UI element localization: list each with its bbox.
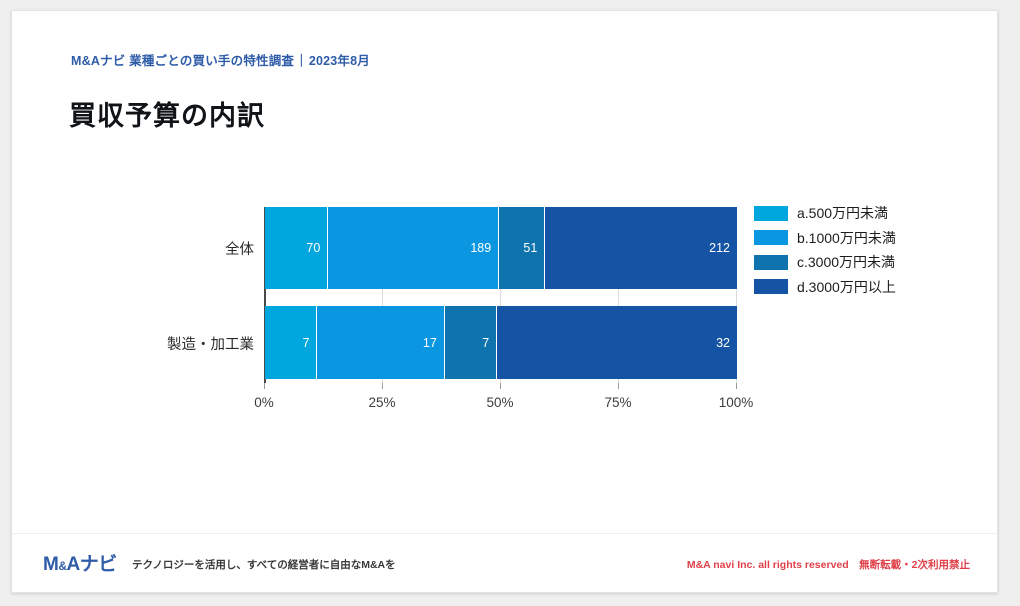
- legend-item[interactable]: d.3000万円以上: [754, 275, 964, 300]
- legend-item-label: b.1000万円未満: [797, 228, 896, 248]
- chart-bar-value-label: 32: [716, 336, 730, 350]
- chart-x-tick: [264, 383, 265, 389]
- legend-item-label: d.3000万円以上: [797, 277, 896, 297]
- chart-bar-value-label: 212: [709, 241, 730, 255]
- logo-ampersand: &: [58, 559, 66, 573]
- chart-x-tick: [382, 383, 383, 389]
- chart-bar-segment[interactable]: 189: [328, 207, 499, 289]
- chart-bar-value-label: 70: [306, 241, 320, 255]
- chart-x-tick-label: 0%: [254, 395, 274, 410]
- chart-bar-value-label: 189: [470, 241, 491, 255]
- chart-bar-segment[interactable]: 212: [545, 207, 737, 289]
- chart-x-tick-label: 25%: [368, 395, 395, 410]
- legend-item-label: a.500万円未満: [797, 203, 888, 223]
- chart-x-tick: [618, 383, 619, 389]
- chart-bar-value-label: 7: [302, 336, 309, 350]
- stacked-bar-chart: 0%25%50%75%100%全体7018951212製造・加工業717732: [12, 11, 998, 593]
- slide-canvas: M&Aナビ 業種ごとの買い手の特性調査｜2023年8月 買収予算の内訳 0%25…: [11, 10, 998, 593]
- chart-bar-value-label: 7: [482, 336, 489, 350]
- chart-x-tick-label: 100%: [719, 395, 754, 410]
- brand-tagline: テクノロジーを活用し、すべての経営者に自由なM&Aを: [132, 557, 396, 572]
- legend-color-swatch: [754, 255, 788, 270]
- legend-color-swatch: [754, 230, 788, 245]
- footer-divider: [12, 533, 998, 534]
- legend-color-swatch: [754, 206, 788, 221]
- chart-bar-value-label: 51: [523, 241, 537, 255]
- chart-category-label: 製造・加工業: [104, 333, 254, 354]
- legend-item-label: c.3000万円未満: [797, 252, 895, 272]
- chart-x-tick: [736, 383, 737, 389]
- chart-bar-segment[interactable]: 32: [497, 306, 737, 379]
- legend-color-swatch: [754, 279, 788, 294]
- brand-logo: M&Aナビ: [43, 549, 117, 576]
- chart-bar-row: 717732: [265, 306, 737, 379]
- legend-item[interactable]: a.500万円未満: [754, 201, 964, 226]
- legend-item[interactable]: c.3000万円未満: [754, 250, 964, 275]
- legend-item[interactable]: b.1000万円未満: [754, 226, 964, 251]
- chart-bar-segment[interactable]: 7: [265, 306, 317, 379]
- chart-x-tick: [500, 383, 501, 389]
- chart-x-tick-label: 50%: [486, 395, 513, 410]
- chart-bar-segment[interactable]: 17: [317, 306, 444, 379]
- chart-bar-row: 7018951212: [265, 207, 737, 289]
- copyright-notice: M&A navi Inc. all rights reserved 無断転載・2…: [687, 557, 970, 572]
- chart-legend: a.500万円未満b.1000万円未満c.3000万円未満d.3000万円以上: [754, 201, 964, 299]
- chart-bar-segment[interactable]: 7: [445, 306, 497, 379]
- chart-x-tick-label: 75%: [604, 395, 631, 410]
- chart-category-label: 全体: [104, 238, 254, 259]
- chart-bar-segment[interactable]: 51: [499, 207, 545, 289]
- chart-bar-segment[interactable]: 70: [265, 207, 328, 289]
- logo-text-navi: Aナビ: [67, 554, 117, 575]
- logo-text-m: M: [43, 554, 58, 575]
- chart-bar-value-label: 17: [423, 336, 437, 350]
